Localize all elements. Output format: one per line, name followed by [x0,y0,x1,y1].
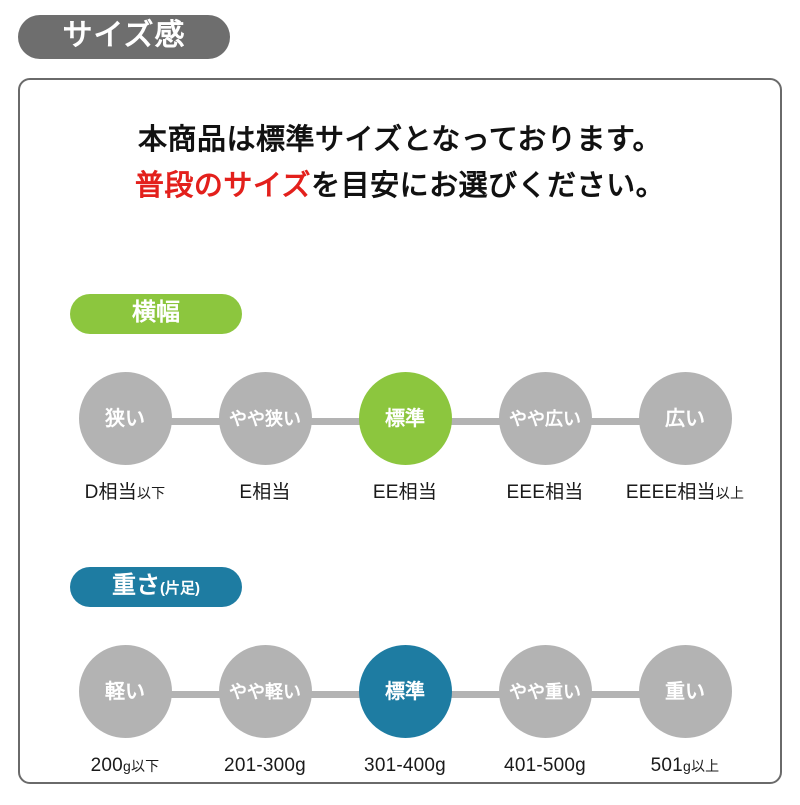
width-node-narrow: 狭い [79,372,172,465]
width-caption-3: EE相当 [373,483,437,502]
weight-step-5: 重い 501g以上 [620,645,750,775]
width-caption-2: E相当 [239,483,290,502]
sizing-infographic: サイズ感 本商品は標準サイズとなっております。 普段のサイズを目安にお選びくださ… [0,0,800,800]
width-node-standard: 標準 [359,372,452,465]
intro-line-1: 本商品は標準サイズとなっております。 [20,118,780,164]
width-node-narrow-label: 狭い [105,409,145,429]
weight-node-slightly-heavy: やや重い [499,645,592,738]
content-frame: 本商品は標準サイズとなっております。 普段のサイズを目安にお選びください。 横幅… [18,78,782,784]
weight-node-standard: 標準 [359,645,452,738]
width-node-wide-label: 広い [665,409,705,429]
weight-step-2: やや軽い 201-300g [200,645,330,775]
weight-scale: 軽い 200g以下 やや軽い 201-300g 標準 [60,645,750,805]
weight-scale-items: 軽い 200g以下 やや軽い 201-300g 標準 [60,645,750,775]
weight-node-heavy: 重い [639,645,732,738]
section-weight-badge: 重さ(片足) [70,567,242,607]
weight-node-heavy-label: 重い [665,682,705,702]
width-node-standard-label: 標準 [385,409,425,429]
width-node-slightly-narrow-label: やや狭い [229,410,301,428]
weight-step-3: 標準 301-400g [340,645,470,775]
weight-node-slightly-light-label: やや軽い [229,683,301,701]
width-node-slightly-wide-label: やや広い [509,410,581,428]
width-scale: 狭い D相当以下 やや狭い E相当 標準 EE相当 [60,372,750,532]
header-badge: サイズ感 [18,15,230,59]
intro-line-2-rest: を目安にお選びください。 [311,170,665,202]
weight-node-standard-label: 標準 [385,682,425,702]
weight-node-slightly-heavy-label: やや重い [509,683,581,701]
width-node-wide: 広い [639,372,732,465]
width-step-3: 標準 EE相当 [340,372,470,502]
weight-step-1: 軽い 200g以下 [60,645,190,775]
section-weight-badge-sub: (片足) [160,580,200,597]
weight-caption-5: 501g以上 [651,756,720,775]
weight-node-light: 軽い [79,645,172,738]
section-width-badge-label: 横幅 [132,301,180,327]
width-caption-5: EEEE相当以上 [626,483,744,502]
width-scale-items: 狭い D相当以下 やや狭い E相当 標準 EE相当 [60,372,750,502]
weight-step-4: やや重い 401-500g [480,645,610,775]
weight-caption-2: 201-300g [224,756,306,775]
intro-line-2-accent: 普段のサイズ [135,170,311,202]
weight-caption-3: 301-400g [364,756,446,775]
width-node-slightly-wide: やや広い [499,372,592,465]
width-caption-4: EEE相当 [506,483,583,502]
weight-caption-4: 401-500g [504,756,586,775]
width-step-1: 狭い D相当以下 [60,372,190,502]
weight-node-slightly-light: やや軽い [219,645,312,738]
intro-text-block: 本商品は標準サイズとなっております。 普段のサイズを目安にお選びください。 [20,118,780,210]
weight-caption-1: 200g以下 [91,756,160,775]
width-step-2: やや狭い E相当 [200,372,330,502]
intro-line-2: 普段のサイズを目安にお選びください。 [20,164,780,210]
weight-node-light-label: 軽い [105,682,145,702]
width-caption-1: D相当以下 [85,483,166,502]
header-badge-label: サイズ感 [62,21,185,53]
width-node-slightly-narrow: やや狭い [219,372,312,465]
section-weight-badge-label: 重さ(片足) [112,574,200,600]
width-step-4: やや広い EEE相当 [480,372,610,502]
width-step-5: 広い EEEE相当以上 [620,372,750,502]
section-width-badge: 横幅 [70,294,242,334]
